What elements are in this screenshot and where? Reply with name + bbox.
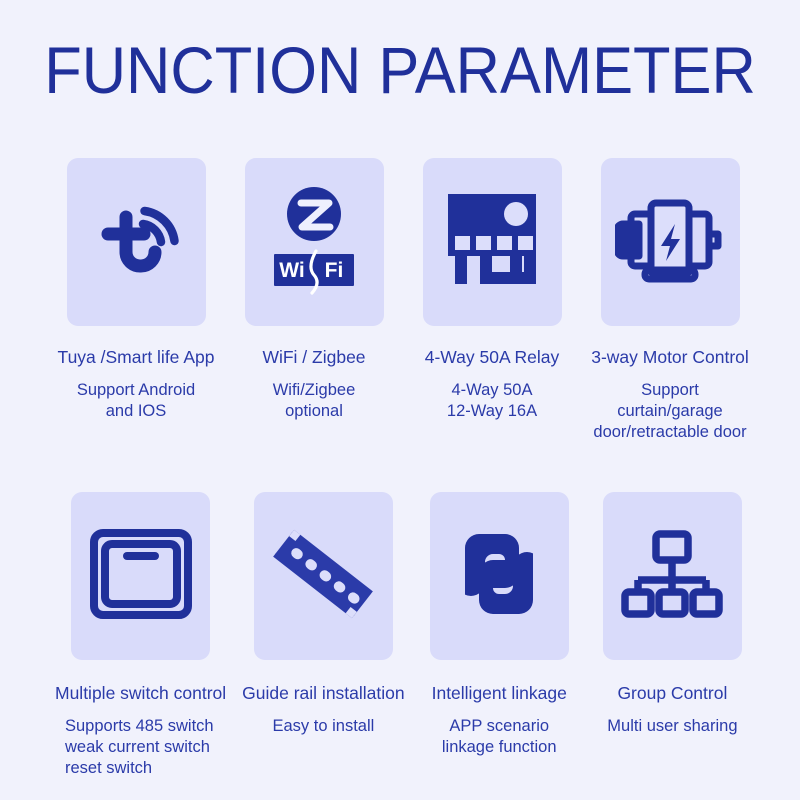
feature-card [423,158,562,326]
feature-item-relay: 4-Way 50A Relay 4-Way 50A 12-Way 16A [411,158,573,443]
page-title: FUNCTION PARAMETER [28,34,772,106]
feature-detail: Easy to install [273,716,375,737]
function-parameter-page: FUNCTION PARAMETER Tuya /Smart life App … [0,0,800,800]
feature-item-tuya: Tuya /Smart life App Support Android and… [55,158,217,443]
relay-module-icon [442,192,542,293]
feature-card [601,158,740,326]
intelligent-linkage-icon [451,526,547,627]
feature-item-intelligent-linkage: Intelligent linkage APP scenario linkage… [421,492,578,779]
feature-item-guide-rail: Guide rail installation Easy to install [242,492,404,779]
feature-card [603,492,742,660]
feature-detail: Multi user sharing [607,716,737,737]
feature-caption: 3-way Motor Control [591,346,749,368]
feature-caption: Intelligent linkage [432,682,567,704]
wifi-badge-right-text: Fi [325,259,344,282]
feature-caption: WiFi / Zigbee [262,346,365,368]
feature-item-group-control: Group Control Multi user sharing [594,492,751,779]
feature-grid-row1: Tuya /Smart life App Support Android and… [55,158,751,443]
feature-grid-row2: Multiple switch control Supports 485 swi… [55,462,751,779]
feature-detail: 4-Way 50A 12-Way 16A [447,380,537,422]
din-guide-rail-icon [268,524,378,629]
feature-caption: Tuya /Smart life App [58,346,215,368]
feature-caption: 4-Way 50A Relay [425,346,560,368]
feature-detail: Support curtain/garage door/retractable … [589,380,751,443]
feature-caption: Guide rail installation [242,682,404,704]
feature-caption: Group Control [617,682,727,704]
zigbee-wifi-icon: Wi Fi [259,181,369,304]
wifi-badge-left-text: Wi [279,259,304,282]
feature-item-multiple-switch: Multiple switch control Supports 485 swi… [55,492,226,779]
feature-caption: Multiple switch control [55,682,226,704]
feature-card: Wi Fi [245,158,384,326]
tuya-logo-icon [86,190,186,295]
feature-detail: Supports 485 switch weak current switch … [65,716,214,779]
group-control-icon [620,529,724,624]
motor-control-icon [615,194,725,291]
feature-card [430,492,569,660]
feature-detail: Support Android and IOS [77,380,195,422]
feature-card [71,492,210,660]
feature-detail: APP scenario linkage function [442,716,557,758]
feature-item-motor: 3-way Motor Control Support curtain/gara… [589,158,751,443]
feature-card [254,492,393,660]
wall-switch-icon [89,528,193,625]
feature-detail: Wifi/Zigbee optional [273,380,356,422]
feature-item-wifi-zigbee: Wi Fi WiFi / Zigbee Wifi/Zigbee optional [233,158,395,443]
feature-card [67,158,206,326]
